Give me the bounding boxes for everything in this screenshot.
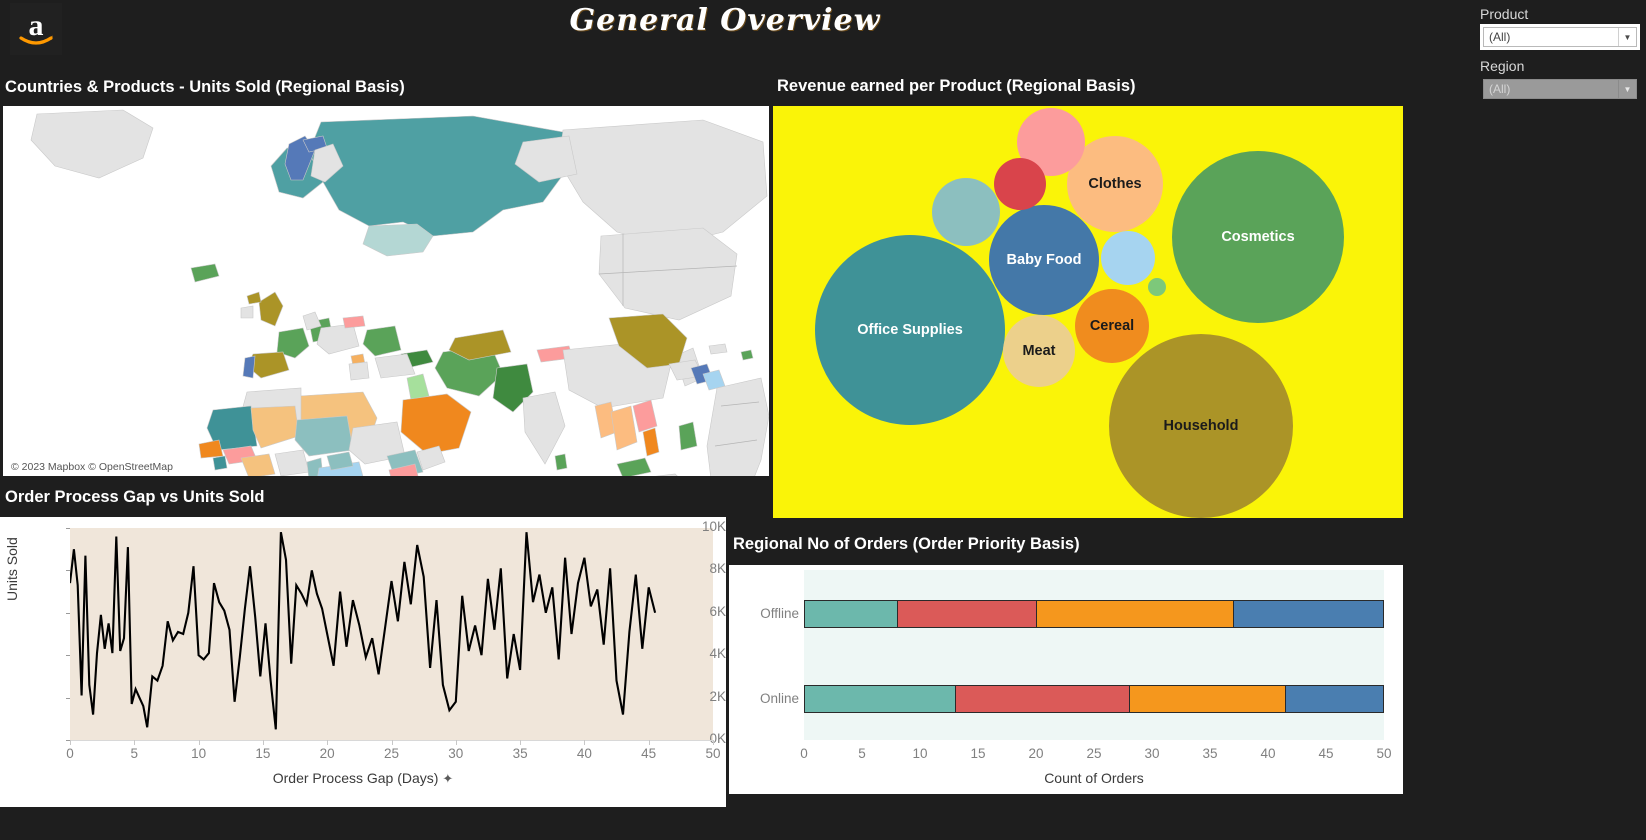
line-chart-svg <box>70 528 713 740</box>
bubble-label: Cosmetics <box>1221 229 1294 245</box>
bubble-label: Clothes <box>1088 176 1141 192</box>
line-x-tick-mark <box>456 740 457 745</box>
bar-x-tick-label: 15 <box>958 746 998 761</box>
bar-segment-priority-3[interactable] <box>1036 600 1233 628</box>
dashboard-root: a General Overview Product (All) ▼ Regio… <box>0 0 1646 840</box>
map-attribution: © 2023 Mapbox © OpenStreetMap <box>11 461 173 473</box>
bar-x-tick-label: 35 <box>1190 746 1230 761</box>
map-panel-title: Countries & Products - Units Sold (Regio… <box>5 78 405 97</box>
line-panel-title: Order Process Gap vs Units Sold <box>5 488 265 507</box>
bar-segment-priority-1[interactable] <box>804 600 897 628</box>
line-y-tick-label: 6K <box>662 604 726 619</box>
line-x-tick-label: 15 <box>243 746 283 761</box>
line-x-tick-label: 0 <box>50 746 90 761</box>
filter-region-select[interactable]: (All) ▼ <box>1483 79 1637 99</box>
bubble-label: Cereal <box>1090 318 1134 334</box>
filter-region-box: (All) ▼ <box>1480 76 1640 102</box>
line-chart-plot-area[interactable] <box>70 528 713 740</box>
bubble-label: Baby Food <box>1007 252 1082 268</box>
line-x-tick-mark <box>134 740 135 745</box>
bar-segment-priority-2[interactable] <box>955 685 1129 713</box>
bubble-office-supplies[interactable]: Office Supplies <box>815 235 1005 425</box>
line-x-tick-mark <box>327 740 328 745</box>
line-x-tick-label: 25 <box>372 746 412 761</box>
dashboard-header: a General Overview <box>0 0 1646 62</box>
bar-x-tick-label: 45 <box>1306 746 1346 761</box>
line-y-tick-mark <box>66 570 70 571</box>
line-chart-panel[interactable]: Units Sold 0K2K4K6K8K10K 051015202530354… <box>0 517 726 807</box>
line-x-tick-label: 20 <box>307 746 347 761</box>
chevron-down-icon[interactable]: ▼ <box>1618 28 1636 46</box>
map-panel[interactable]: © 2023 Mapbox © OpenStreetMap <box>3 106 769 476</box>
line-series-path <box>70 532 655 729</box>
bar-category-label-online[interactable]: Online <box>729 691 799 706</box>
line-x-axis-label-text: Order Process Gap (Days) <box>273 770 439 786</box>
bubble-unlabeled-9[interactable] <box>994 158 1046 210</box>
bar-row-offline <box>804 600 1384 628</box>
bubble-chart-panel[interactable]: Office SuppliesCosmeticsHouseholdBaby Fo… <box>773 106 1403 518</box>
line-y-tick-label: 4K <box>662 646 726 661</box>
line-x-tick-label: 45 <box>629 746 669 761</box>
line-x-tick-label: 5 <box>114 746 154 761</box>
bar-x-tick-label: 50 <box>1364 746 1404 761</box>
bubble-cosmetics[interactable]: Cosmetics <box>1172 151 1344 323</box>
filter-product-select[interactable]: (All) ▼ <box>1483 27 1637 47</box>
line-y-tick-mark <box>66 698 70 699</box>
bar-x-tick-label: 10 <box>900 746 940 761</box>
line-x-tick-mark <box>70 740 71 745</box>
line-x-tick-mark <box>713 740 714 745</box>
bubble-unlabeled-10[interactable] <box>1101 231 1155 285</box>
line-x-tick-mark <box>263 740 264 745</box>
bar-segment-priority-4[interactable] <box>1233 600 1384 628</box>
line-y-tick-label: 2K <box>662 689 726 704</box>
line-y-tick-label: 10K <box>662 519 726 534</box>
bubble-meat[interactable]: Meat <box>1003 315 1075 387</box>
bubble-label: Meat <box>1022 343 1055 359</box>
bar-x-tick-label: 5 <box>842 746 882 761</box>
filter-panel: Product (All) ▼ Region (All) ▼ <box>1480 6 1640 110</box>
bubble-label: Office Supplies <box>857 322 963 338</box>
filter-product-value: (All) <box>1489 30 1510 44</box>
filter-product-box: (All) ▼ <box>1480 24 1640 50</box>
bubble-household[interactable]: Household <box>1109 334 1293 518</box>
bar-segment-priority-2[interactable] <box>897 600 1036 628</box>
filter-region: Region (All) ▼ <box>1480 58 1640 102</box>
bubble-label: Household <box>1164 418 1239 434</box>
bar-x-axis-label: Count of Orders <box>804 770 1384 786</box>
line-x-tick-mark <box>520 740 521 745</box>
bar-segment-priority-3[interactable] <box>1129 685 1286 713</box>
bar-row-online <box>804 685 1384 713</box>
line-x-tick-label: 40 <box>564 746 604 761</box>
filter-product-label: Product <box>1480 6 1640 22</box>
filter-product: Product (All) ▼ <box>1480 6 1640 50</box>
bar-chart-panel[interactable]: OfflineOnline 05101520253035404550 Count… <box>729 565 1403 794</box>
pin-icon[interactable]: ✦ <box>442 771 453 786</box>
bar-x-tick-label: 40 <box>1248 746 1288 761</box>
bar-x-tick-label: 30 <box>1132 746 1172 761</box>
bubble-unlabeled-8[interactable] <box>932 178 1000 246</box>
bar-chart-plot-area[interactable] <box>804 570 1384 740</box>
line-x-tick-mark <box>649 740 650 745</box>
line-x-axis-label: Order Process Gap (Days) ✦ <box>0 770 726 787</box>
line-y-tick-mark <box>66 655 70 656</box>
bubble-cereal[interactable]: Cereal <box>1075 289 1149 363</box>
line-y-tick-label: 0K <box>662 731 726 746</box>
line-x-tick-label: 10 <box>179 746 219 761</box>
bar-x-tick-label: 20 <box>1016 746 1056 761</box>
chevron-down-icon[interactable]: ▼ <box>1618 80 1636 98</box>
bar-x-tick-label: 0 <box>784 746 824 761</box>
bar-x-tick-label: 25 <box>1074 746 1114 761</box>
bubble-baby-food[interactable]: Baby Food <box>989 205 1099 315</box>
line-x-tick-mark <box>199 740 200 745</box>
world-map-svg[interactable] <box>3 106 769 476</box>
page-title: General Overview <box>0 3 1450 38</box>
line-y-tick-mark <box>66 613 70 614</box>
bar-segment-priority-1[interactable] <box>804 685 955 713</box>
line-x-tick-label: 50 <box>693 746 733 761</box>
bubble-panel-title: Revenue earned per Product (Regional Bas… <box>777 77 1136 96</box>
filter-region-value: (All) <box>1489 82 1510 96</box>
bubble-unlabeled-11[interactable] <box>1148 278 1166 296</box>
line-y-tick-label: 8K <box>662 561 726 576</box>
line-x-tick-mark <box>584 740 585 745</box>
line-x-tick-label: 30 <box>436 746 476 761</box>
line-y-tick-mark <box>66 528 70 529</box>
bar-segment-priority-4[interactable] <box>1285 685 1384 713</box>
line-x-tick-label: 35 <box>500 746 540 761</box>
filter-region-label: Region <box>1480 58 1640 74</box>
line-y-axis-label: Units Sold <box>4 537 20 601</box>
bar-category-label-offline[interactable]: Offline <box>729 606 799 621</box>
bar-panel-title: Regional No of Orders (Order Priority Ba… <box>733 535 1080 554</box>
line-x-tick-mark <box>392 740 393 745</box>
